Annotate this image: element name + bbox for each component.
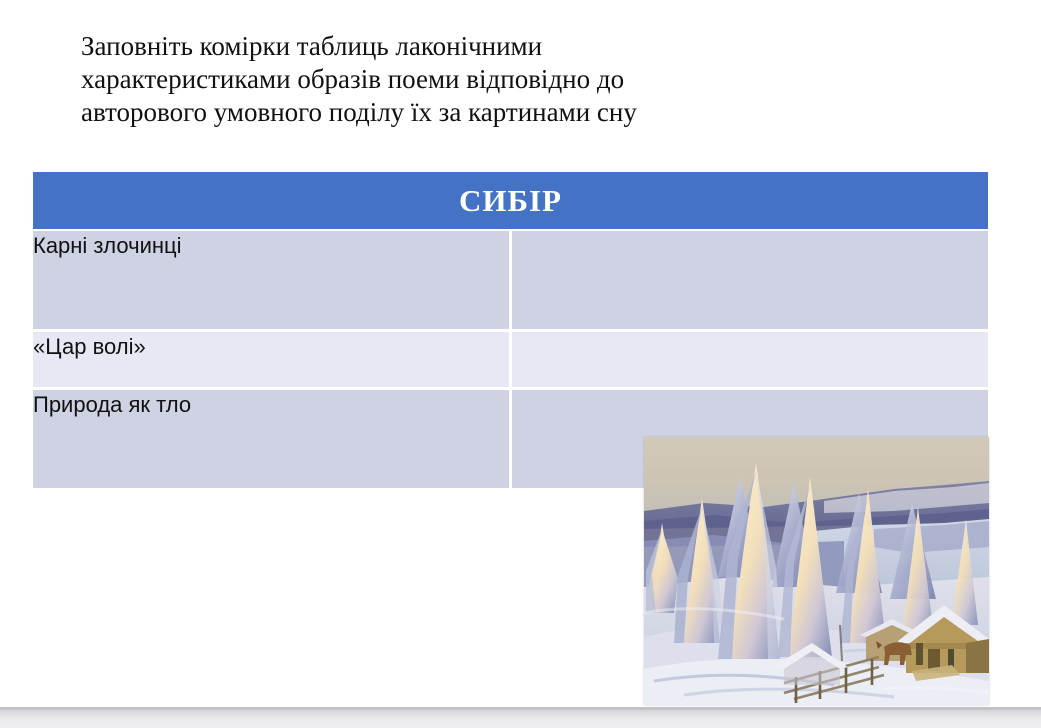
page-title: Заповніть комірки таблиць лаконічними ха… <box>81 30 911 129</box>
table-title-cell: СИБІР <box>33 172 988 230</box>
table-row: Карні злочинці <box>33 230 988 331</box>
slide-canvas: Заповніть комірки таблиць лаконічними ха… <box>0 0 1041 707</box>
row-value-tsar-voli[interactable] <box>511 331 989 389</box>
browser-bottom-strip <box>0 707 1041 728</box>
row-value-criminals[interactable] <box>511 230 989 331</box>
table-header-row: СИБІР <box>33 172 988 230</box>
row-label-criminals: Карні злочинці <box>33 230 511 331</box>
page-title-line-3: авторового умовного поділу їх за картина… <box>81 96 911 129</box>
table-row: «Цар волі» <box>33 331 988 389</box>
table-head: СИБІР <box>33 172 988 230</box>
winter-landscape-image <box>644 437 989 705</box>
page-title-line-1: Заповніть комірки таблиць лаконічними <box>81 30 911 63</box>
row-label-nature: Природа як тло <box>33 389 511 489</box>
row-label-tsar-voli: «Цар волі» <box>33 331 511 389</box>
page-title-line-2: характеристиками образів поеми відповідн… <box>81 63 911 96</box>
